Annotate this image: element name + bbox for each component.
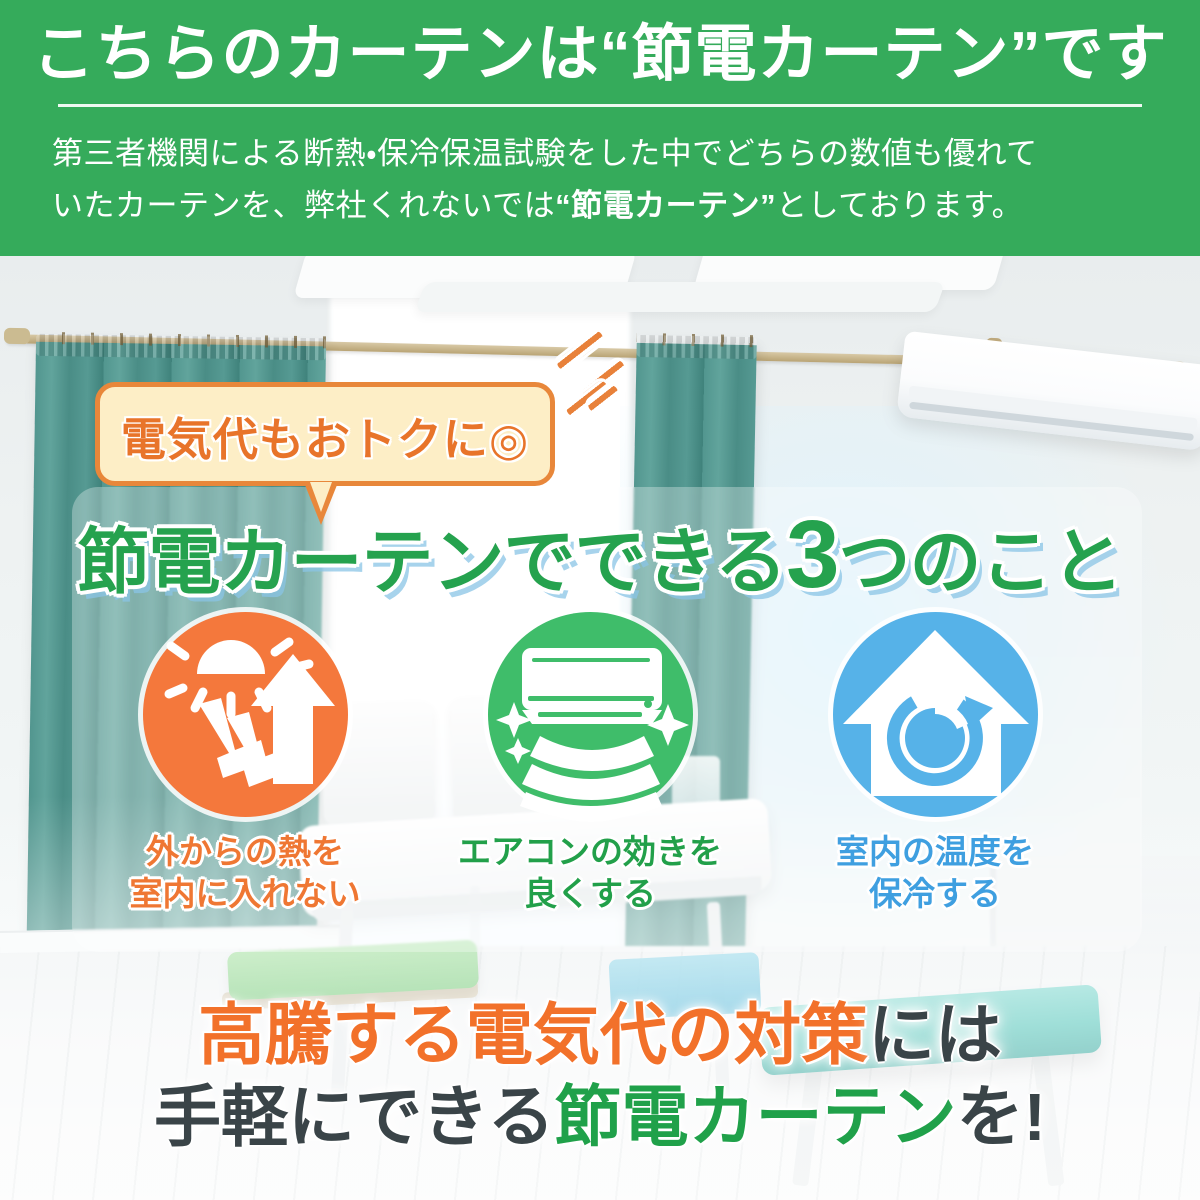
feature-label-line2: 室内に入れない [130,875,361,912]
main-headline: 節電カーテンでできる3つのこと [0,500,1200,610]
feature-label-aircon: エアコンの効きを 良くする [440,831,740,915]
feature-label-line2: 良くする [524,875,656,912]
header-description-line1: 第三者機関による断熱・保冷保温試験をした中でどちらの数値も優れて [52,136,1038,171]
speech-bubble: 電気代もおトクに◎ [95,382,555,486]
main-headline-part1: 節電カーテンでできる [78,523,787,603]
feature-item-aircon: エアコンの効きを 良くする [440,612,740,915]
curtain-pleats [36,334,326,361]
speech-bubble-text: 電気代もおトクに◎ [100,403,550,468]
feature-item-temperature: 室内の温度を 保冷する [785,612,1085,915]
bottom-headline-line2: 手軽にできる節電カーテンを! [0,1080,1200,1156]
feature-label-line1: 室内の温度を [836,833,1034,870]
feature-label-line2: 保冷する [869,875,1001,912]
feature-label-heat-block: 外からの熱を 室内に入れない [95,831,395,915]
feature-label-line1: エアコンの効きを [458,833,722,870]
bottom-headline-plain: には [868,998,1002,1073]
ceiling-panel [415,282,946,312]
bottom-headline-plain-b: を! [957,1080,1046,1155]
main-headline-number: 3 [786,501,838,608]
header-title: こちらのカーテンは“節電カーテン”です [0,14,1200,96]
feature-item-heat-block: 外からの熱を 室内に入れない [95,612,395,915]
advertisement-page: こちらのカーテンは“節電カーテン”です 第三者機関による断熱・保冷保温試験をした… [0,0,1200,1200]
header-divider [58,104,1142,107]
sun-heat-block-icon [143,612,348,817]
header-description-emphasis: “節電カーテン” [555,188,776,223]
bottom-headline-accent: 高騰する電気代の対策 [198,998,868,1073]
air-conditioner-icon [488,612,693,817]
header-description-line2c: としております。 [776,188,1023,223]
header-banner: こちらのカーテンは“節電カーテン”です 第三者機関による断熱・保冷保温試験をした… [0,0,1200,256]
feature-label-line1: 外からの熱を [146,833,344,870]
header-description: 第三者機関による断熱・保冷保温試験をした中でどちらの数値も優れて いたカーテンを… [52,128,1148,232]
bottom-headline-plain-a: 手軽にできる [154,1080,555,1155]
house-temperature-icon [833,612,1038,817]
feature-label-temperature: 室内の温度を 保冷する [785,831,1085,915]
header-description-line2a: いたカーテンを、弊社くれないでは [52,188,555,223]
curtain-pleats [636,335,756,359]
bottom-headline-accent-green: 節電カーテン [555,1080,957,1155]
bottom-headline-line1: 高騰する電気代の対策には [0,998,1200,1074]
curtain-rod-end [4,328,30,345]
main-headline-part2: つのこと [838,523,1122,603]
